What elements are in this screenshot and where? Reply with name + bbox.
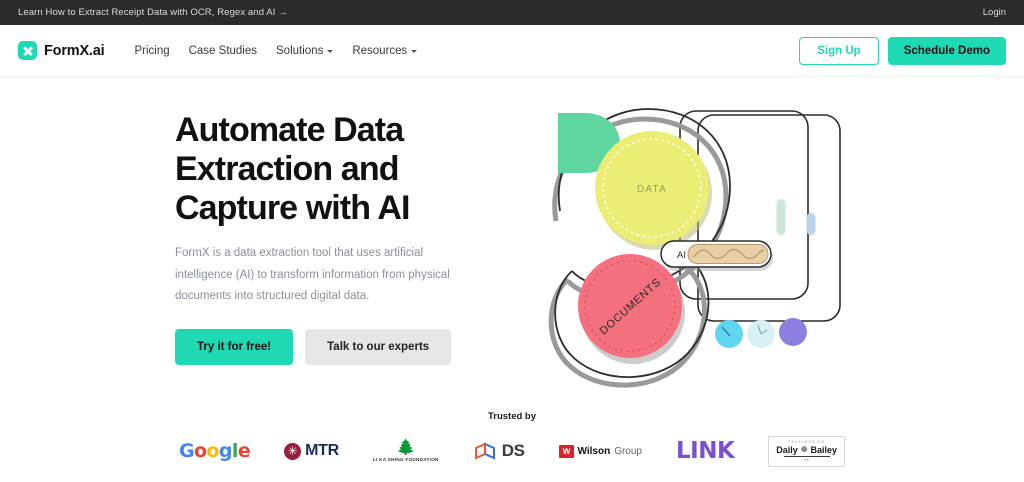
dot-purple (779, 318, 807, 346)
badge-region: HK (804, 458, 810, 462)
logo-daily-bailey: FEATURED ON Daily ❁ Bailey HK (768, 436, 845, 466)
logo-mtr: MTR (284, 436, 339, 466)
hero-illustration: DATA DOCUMENTS AI (530, 91, 860, 401)
flower-icon: ❁ (801, 446, 808, 454)
brand-logo[interactable]: FormX.ai (18, 41, 104, 60)
announcement-link[interactable]: Learn How to Extract Receipt Data with O… (18, 7, 288, 18)
ai-pill: AI (661, 241, 773, 271)
formx-logo-icon (18, 41, 37, 60)
logo-ds: DS (473, 436, 525, 466)
data-circle-label: DATA (637, 184, 667, 195)
main-navigation: FormX.ai Pricing Case Studies Solutions … (0, 25, 1024, 77)
nav-item-label: Resources (352, 45, 407, 57)
accent-bar-blue (807, 213, 816, 235)
wilson-mark-icon: W (559, 445, 574, 458)
nav-item-label: Pricing (134, 45, 169, 57)
bottom-dots (715, 318, 807, 348)
logo-link-text: LINK (676, 438, 734, 464)
nav-item-label: Case Studies (189, 45, 257, 57)
nav-item-case-studies[interactable]: Case Studies (189, 45, 257, 57)
logo-wilson-bold: Wilson (578, 446, 611, 457)
login-link[interactable]: Login (983, 7, 1006, 18)
logo-link: LINK (676, 436, 734, 466)
hero-title-line-2: Extraction and (175, 150, 399, 188)
trusted-by-section: Trusted by Google MTR 🌲 LI KA SHING FOUN… (0, 411, 1024, 466)
hero-cta-group: Try it for free! Talk to our experts (175, 329, 520, 365)
logo-ds-text: DS (502, 441, 525, 461)
hero-title-line-3: Capture with AI (175, 189, 410, 227)
hero-illustration-area: DATA DOCUMENTS AI (520, 99, 1024, 407)
brand-name: FormX.ai (44, 43, 104, 59)
logo-wilson-group: W Wilson Group (559, 436, 642, 466)
ds-book-icon (473, 440, 497, 462)
data-circle: DATA (595, 131, 712, 250)
logo-lks-text: LI KA SHING FOUNDATION (373, 457, 439, 462)
talk-to-experts-button[interactable]: Talk to our experts (305, 329, 451, 365)
nav-item-pricing[interactable]: Pricing (134, 45, 169, 57)
logo-mtr-text: MTR (305, 442, 339, 460)
badge-divider (784, 456, 830, 457)
chevron-down-icon (411, 50, 417, 53)
trusted-by-label: Trusted by (0, 411, 1024, 422)
page-title: Automate Data Extraction and Capture wit… (175, 111, 520, 227)
partner-logos: Google MTR 🌲 LI KA SHING FOUNDATION DS W… (0, 436, 1024, 466)
badge-featured-on: FEATURED ON (788, 440, 825, 444)
mtr-badge-icon (284, 443, 301, 460)
nav-item-label: Solutions (276, 45, 323, 57)
hero-title-line-1: Automate Data (175, 111, 403, 149)
ai-pill-label: AI (677, 250, 686, 261)
sign-up-button[interactable]: Sign Up (799, 37, 878, 65)
nav-item-solutions[interactable]: Solutions (276, 45, 333, 57)
chevron-down-icon (327, 50, 333, 53)
announcement-bar: Learn How to Extract Receipt Data with O… (0, 0, 1024, 25)
logo-wilson-light: Group (614, 446, 642, 457)
try-it-for-free-button[interactable]: Try it for free! (175, 329, 293, 365)
hero-copy: Automate Data Extraction and Capture wit… (0, 99, 520, 407)
tree-icon: 🌲 (396, 440, 415, 455)
nav-links: Pricing Case Studies Solutions Resources (134, 45, 417, 57)
schedule-demo-button[interactable]: Schedule Demo (888, 37, 1006, 65)
accent-bar-green (777, 199, 786, 235)
badge-name-right: Bailey (811, 445, 838, 455)
logo-li-ka-shing-foundation: 🌲 LI KA SHING FOUNDATION (373, 436, 439, 466)
hero-subtitle: FormX is a data extraction tool that use… (175, 243, 475, 307)
nav-item-resources[interactable]: Resources (352, 45, 417, 57)
logo-google: Google (179, 436, 250, 466)
hero-section: Automate Data Extraction and Capture wit… (0, 77, 1024, 407)
badge-name-left: Daily (776, 445, 798, 455)
nav-actions: Sign Up Schedule Demo (799, 37, 1006, 65)
documents-circle: DOCUMENTS (578, 254, 685, 364)
